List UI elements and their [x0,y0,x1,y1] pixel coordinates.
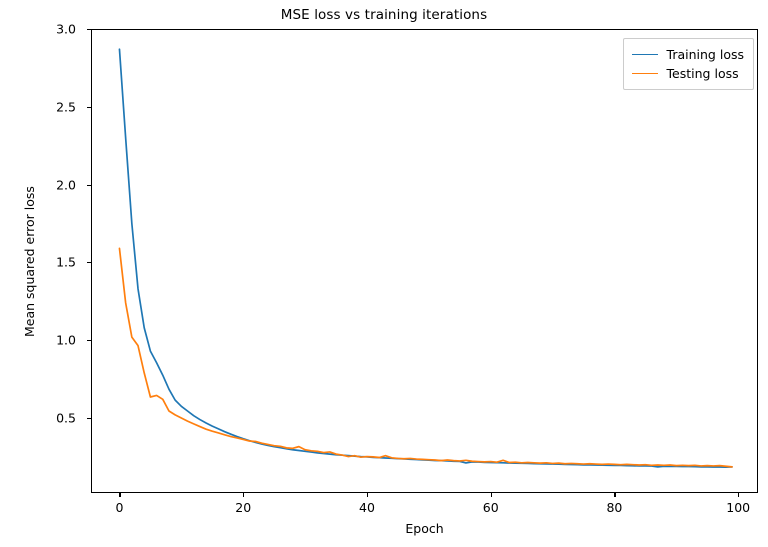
x-tick-mark [614,493,615,497]
legend-label: Training loss [667,47,744,62]
x-tick-label: 20 [213,500,273,515]
legend-label: Testing loss [667,66,739,81]
testing-loss-line [119,248,732,466]
legend-swatch-testing-loss [632,73,658,74]
page-title: MSE loss vs training iterations [0,7,768,23]
legend-item[interactable]: Training loss [632,45,744,64]
training-loss-line [119,49,732,467]
y-tick-label: 0.5 [4,411,76,426]
x-tick-mark [243,493,244,497]
x-tick-mark [491,493,492,497]
y-tick-label: 3.0 [4,22,76,37]
series-lines [91,29,758,493]
x-tick-mark [367,493,368,497]
legend: Training lossTesting loss [623,38,754,90]
legend-swatch-training-loss [632,54,658,55]
x-tick-label: 100 [708,500,768,515]
x-axis-label: Epoch [91,521,758,536]
y-tick-label: 2.0 [4,177,76,192]
x-tick-label: 60 [461,500,521,515]
y-tick-label: 1.0 [4,333,76,348]
legend-item[interactable]: Testing loss [632,64,744,83]
y-tick-label: 1.5 [4,255,76,270]
plot-area [91,29,758,493]
x-tick-mark [119,493,120,497]
y-tick-label: 2.5 [4,99,76,114]
x-tick-label: 40 [337,500,397,515]
x-tick-label: 0 [89,500,149,515]
x-tick-mark [738,493,739,497]
matplotlib-figure: MSE loss vs training iterations Mean squ… [0,0,768,547]
x-tick-label: 80 [584,500,644,515]
